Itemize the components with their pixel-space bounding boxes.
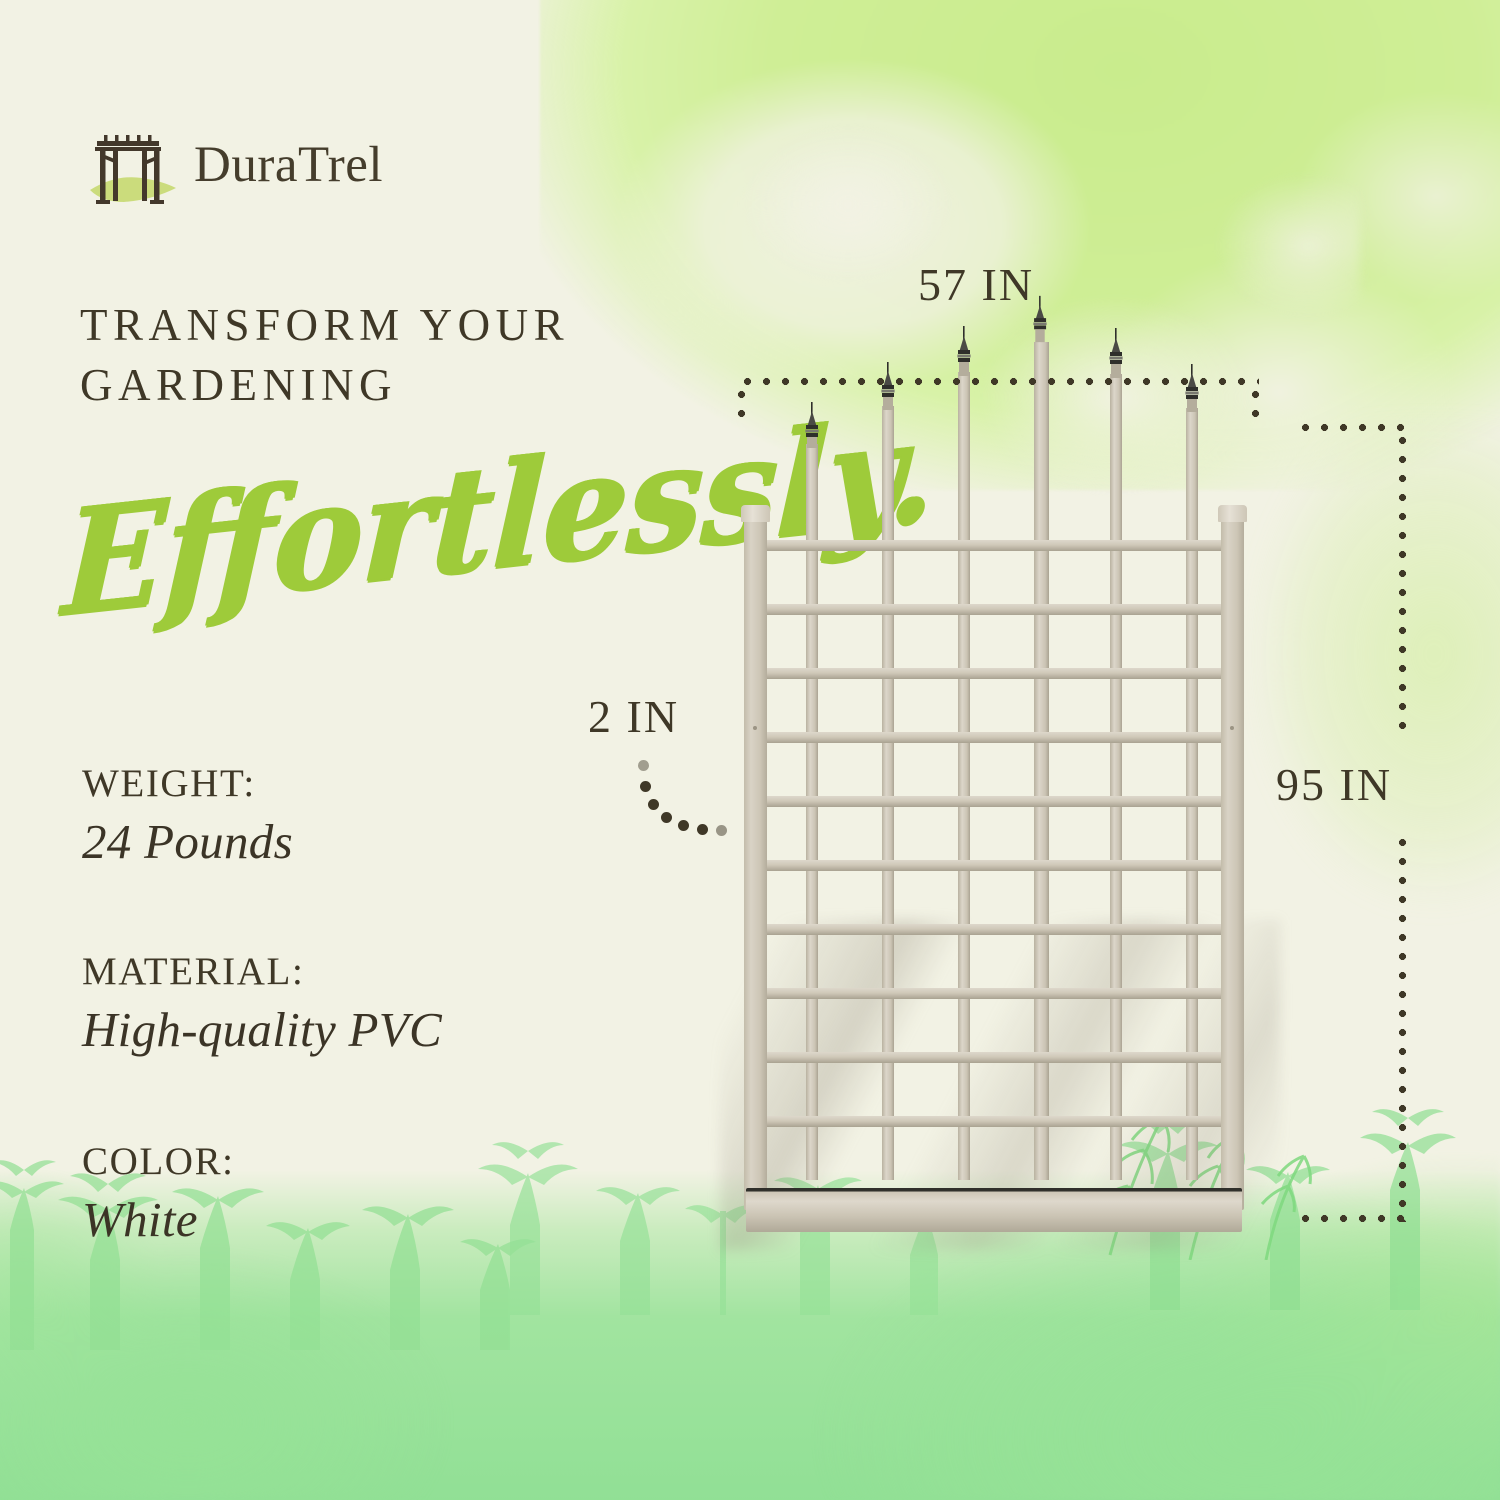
trellis-horizontal-rail	[758, 796, 1230, 807]
dimension-tick-top-right	[1252, 385, 1259, 423]
dimension-line-right-top	[1296, 424, 1406, 431]
trellis-post-right	[1221, 520, 1244, 1210]
dimension-label-width: 57 IN	[918, 258, 1034, 311]
trellis-horizontal-rail	[758, 924, 1230, 935]
trellis-horizontal-rail	[758, 540, 1230, 551]
spec-weight-value: 24 Pounds	[82, 813, 722, 872]
brand-name: DuraTrel	[194, 140, 383, 191]
dimension-line-right-upper	[1399, 431, 1406, 736]
spec-material-value: High-quality PVC	[82, 1001, 722, 1060]
page-title: TRANSFORM YOUR GARDENING	[80, 296, 680, 416]
brand-logo[interactable]: DuraTrel	[86, 122, 383, 208]
spec-material: MATERIAL: High-quality PVC	[82, 950, 722, 1060]
dimension-tick-top-left	[738, 385, 745, 423]
trellis-horizontal-rail	[758, 860, 1230, 871]
trellis-finial-slat	[958, 372, 970, 564]
post-screw	[1230, 726, 1234, 730]
headline-line-1: TRANSFORM YOUR	[80, 296, 680, 356]
dimension-label-depth: 2 IN	[588, 690, 679, 743]
post-cap	[1218, 505, 1247, 522]
spec-weight: WEIGHT: 24 Pounds	[82, 762, 722, 872]
headline-line-2: GARDENING	[80, 356, 680, 416]
spec-color-value: White	[82, 1191, 722, 1250]
dimension-line-right-bottom	[1296, 1215, 1406, 1222]
trellis-horizontal-rail	[758, 668, 1230, 679]
post-screw	[753, 726, 757, 730]
trellis-horizontal-rail	[758, 1052, 1230, 1063]
pvc-garden-trellis	[744, 502, 1244, 1232]
spec-material-label: MATERIAL:	[82, 950, 722, 995]
spec-weight-label: WEIGHT:	[82, 762, 722, 807]
trellis-horizontal-rail	[758, 732, 1230, 743]
trellis-base-rail	[746, 1188, 1242, 1232]
trellis-horizontal-rail	[758, 988, 1230, 999]
trellis-horizontal-rail	[758, 1116, 1230, 1127]
product-image	[700, 400, 1320, 1250]
dimension-line-right-lower	[1399, 833, 1406, 1222]
dimension-line-top	[738, 378, 1259, 385]
trellis-finial-slat-center	[1034, 342, 1049, 564]
post-cap	[741, 505, 770, 522]
script-headline-wrap: Effortlessly.	[56, 470, 696, 680]
trellis-post-left	[744, 520, 767, 1210]
trellis-finial-slat	[1110, 374, 1122, 564]
dimension-label-height: 95 IN	[1276, 758, 1392, 811]
pergola-arbor-icon	[86, 122, 178, 208]
trellis-horizontal-rail	[758, 604, 1230, 615]
spec-color: COLOR: White	[82, 1140, 722, 1250]
spec-color-label: COLOR:	[82, 1140, 722, 1185]
infographic-canvas: DuraTrel TRANSFORM YOUR GARDENING Effort…	[0, 0, 1500, 1500]
